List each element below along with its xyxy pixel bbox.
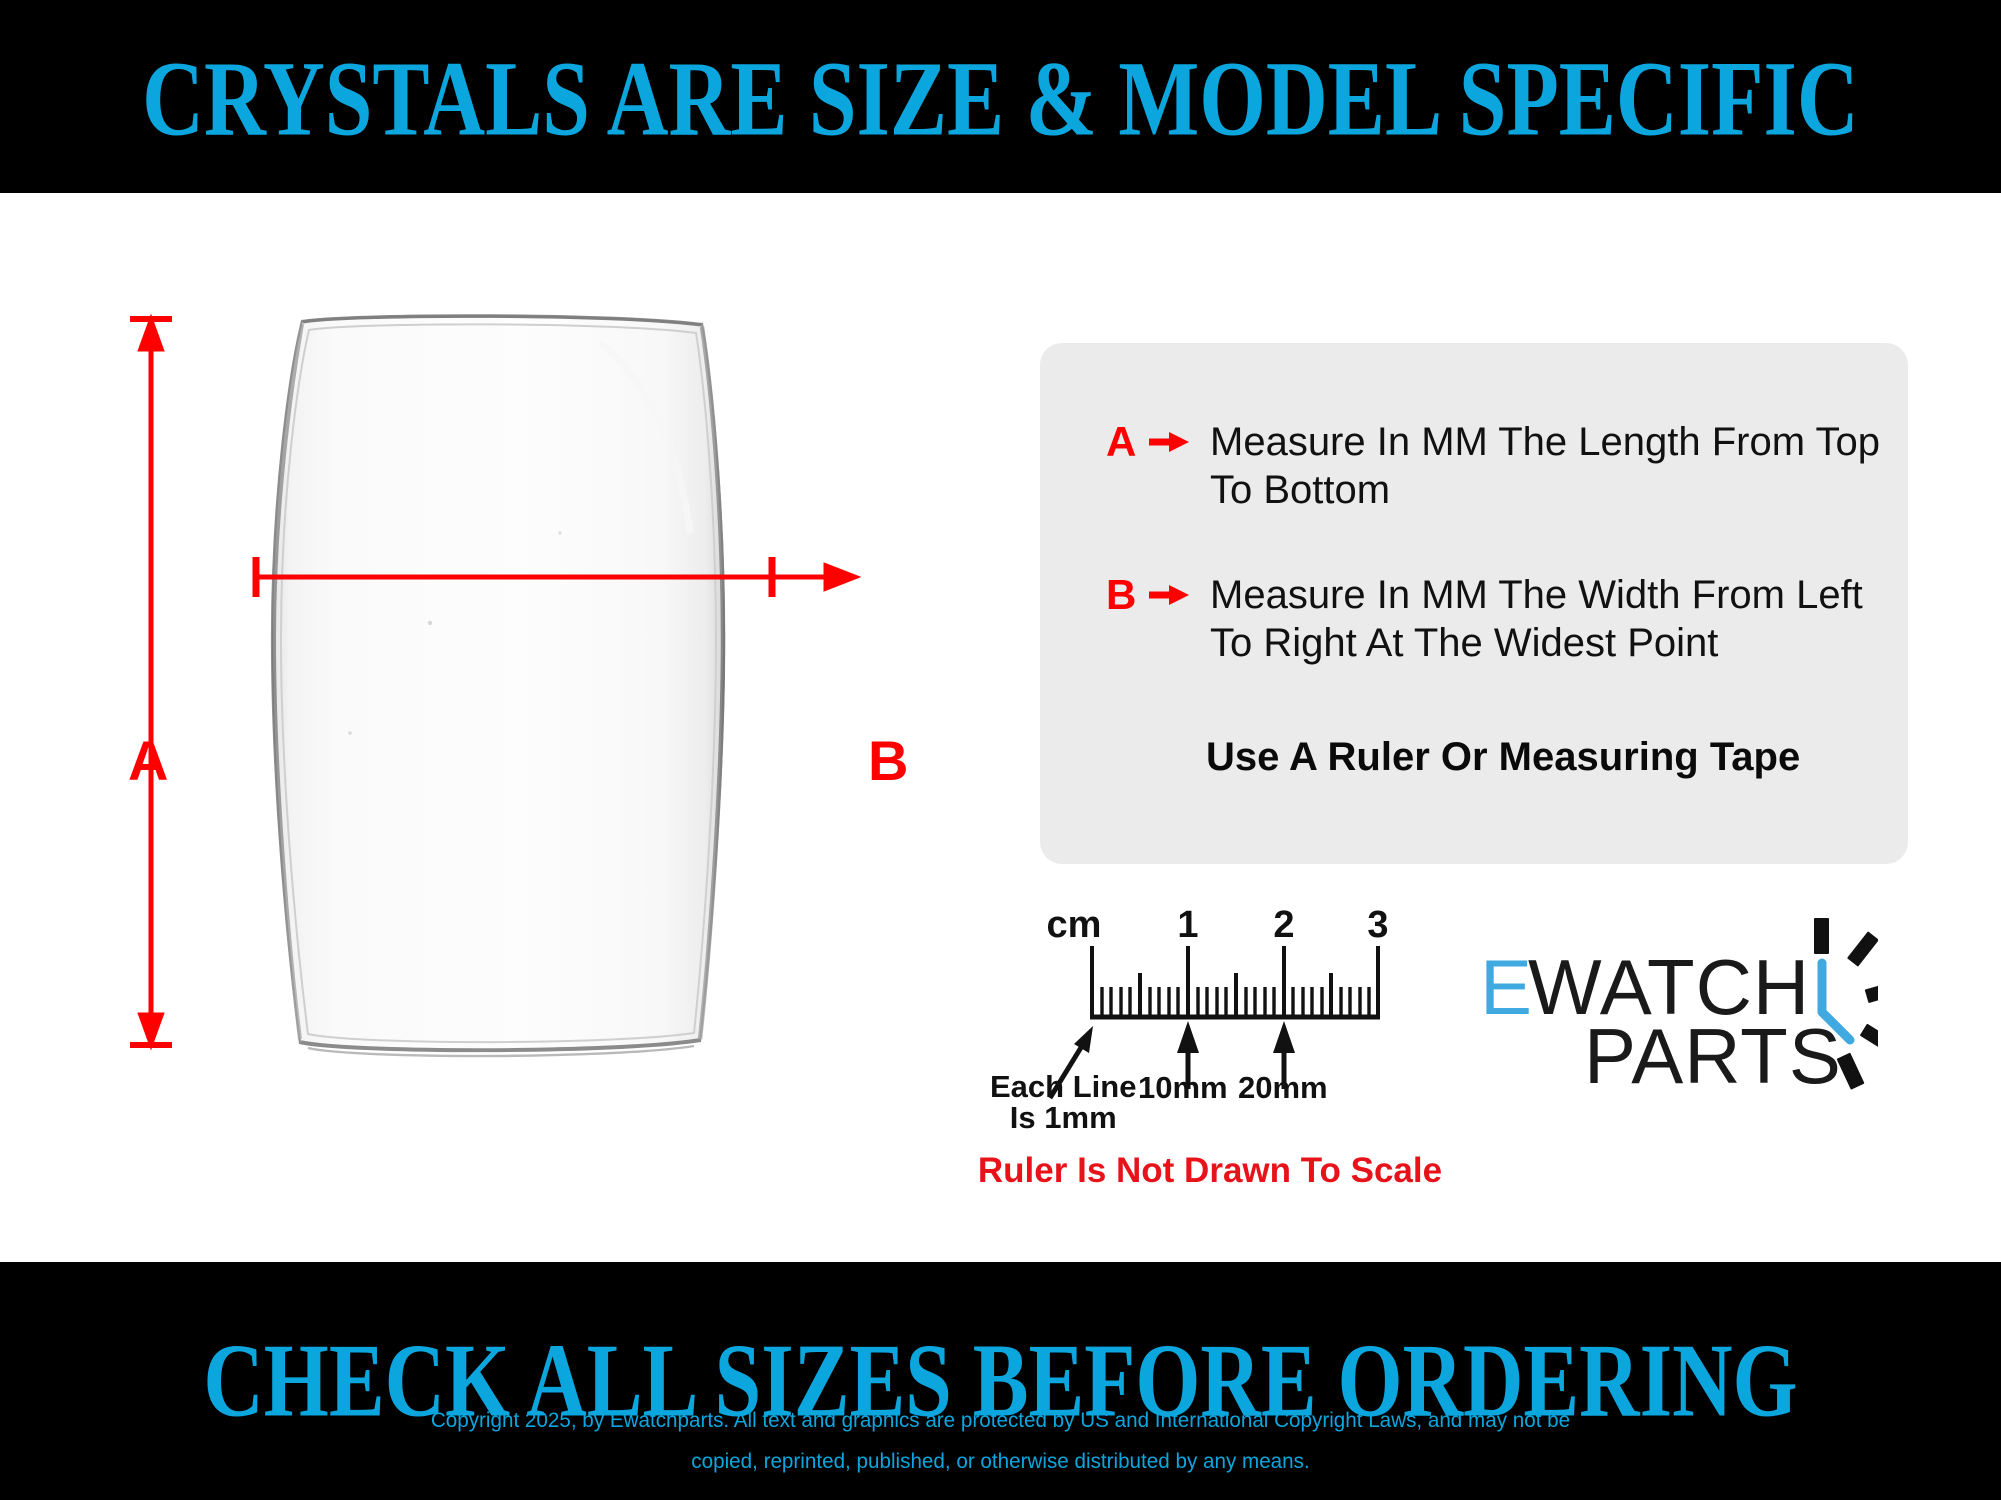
dimension-arrow-a	[130, 315, 172, 1049]
dimension-label-a: A	[128, 733, 168, 789]
crystal-glass	[272, 315, 724, 1056]
copyright-block: Copyright 2025, by Ewatchparts. All text…	[0, 1400, 2001, 1482]
crystal-illustration-svg	[0, 193, 1000, 1262]
arrow-right-icon	[1144, 418, 1194, 466]
ruler-tick-labels: cm 1 2 3	[1047, 904, 1389, 946]
instruction-row-a: A Measure In MM The Length From Top To B…	[1106, 418, 1908, 514]
instruction-text-b: Measure In MM The Width From Left To Rig…	[1210, 571, 1908, 667]
crystal-diagram: A B	[0, 193, 1000, 1262]
dimension-label-b: B	[868, 733, 908, 789]
ruler-disclaimer: Ruler Is Not Drawn To Scale	[975, 1153, 1445, 1188]
instruction-panel: A Measure In MM The Length From Top To B…	[1040, 343, 1908, 864]
copyright-line-1: Copyright 2025, by Ewatchparts. All text…	[40, 1400, 1961, 1441]
svg-text:1: 1	[1177, 904, 1198, 946]
logo-word-parts: PARTS	[1584, 1012, 1842, 1100]
logo-letter-e: E	[1480, 943, 1533, 1031]
arrow-right-icon	[1144, 571, 1194, 619]
instruction-text-a: Measure In MM The Length From Top To Bot…	[1210, 418, 1908, 514]
ewatchparts-logo: E WATCH PARTS	[1478, 918, 1878, 1118]
instruction-key-a: A	[1106, 418, 1144, 466]
instruction-key-b: B	[1106, 571, 1144, 619]
top-banner-headline: CRYSTALS ARE SIZE & MODEL SPECIFIC	[142, 46, 1859, 154]
svg-text:cm: cm	[1047, 904, 1102, 946]
ruler-callout-10mm: 10mm	[1138, 1072, 1228, 1103]
logo-svg: E WATCH PARTS	[1478, 918, 1878, 1118]
ruler-each-line-1: Each Line	[990, 1069, 1136, 1104]
top-banner: CRYSTALS ARE SIZE & MODEL SPECIFIC	[0, 0, 2001, 193]
svg-text:3: 3	[1367, 904, 1388, 946]
ruler-each-line-2: Is 1mm	[990, 1102, 1136, 1133]
svg-text:2: 2	[1273, 904, 1294, 946]
ruler-graphic: cm 1 2 3 Each Line Is 1mm 10mm	[990, 893, 1410, 1158]
instruction-row-b: B Measure In MM The Width From Left To R…	[1106, 571, 1908, 667]
copyright-line-2: copied, reprinted, published, or otherwi…	[40, 1441, 1961, 1482]
instruction-footnote: Use A Ruler Or Measuring Tape	[1206, 733, 1800, 781]
ruler-callout-20mm: 20mm	[1238, 1072, 1328, 1103]
infographic-page: CRYSTALS ARE SIZE & MODEL SPECIFIC	[0, 0, 2001, 1500]
ruler-each-line-caption: Each Line Is 1mm	[990, 1071, 1136, 1133]
